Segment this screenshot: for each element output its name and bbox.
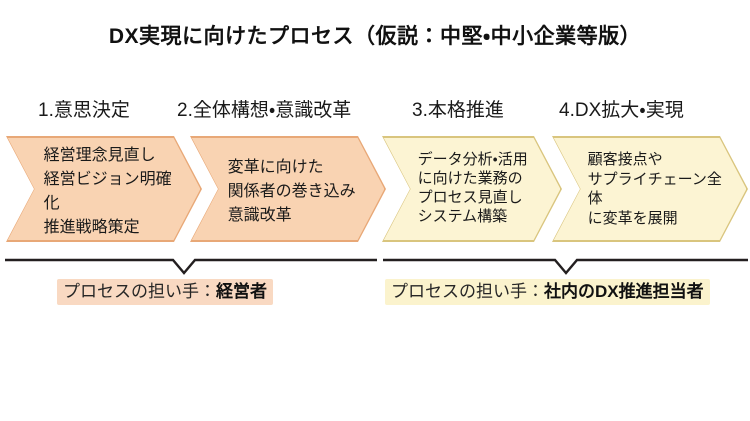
- owner-right-lead: プロセスの担い手：: [391, 282, 544, 301]
- chevron-1-line-1: 経営理念見直し: [44, 141, 177, 165]
- process-chevron-row: 経営理念見直し 経営ビジョン明確化 推進戦略策定 変革に向けた 関係者の巻き込み…: [0, 136, 750, 242]
- process-step-chevron-4: 顧客接点や サプライチェーン全体 に変革を展開: [552, 136, 748, 242]
- page-title: DX実現に向けたプロセス（仮説：中堅・中小企業等版）: [0, 20, 750, 50]
- chevron-3-line-2: に向けた業務の: [418, 170, 541, 189]
- owner-bracket-right: [383, 258, 748, 276]
- chevron-2-line-3: 意識改革: [228, 201, 361, 225]
- dx-process-diagram: DX実現に向けたプロセス（仮説：中堅・中小企業等版） 1.意思決定 2.全体構想…: [0, 0, 750, 421]
- step-label-4: 4.DX拡大・実現: [559, 95, 684, 122]
- owner-highlight-right: プロセスの担い手：社内のDX推進担当者: [385, 279, 710, 305]
- step-label-3: 3.本格推進: [412, 95, 504, 122]
- owner-left-lead: プロセスの担い手：: [63, 282, 216, 301]
- process-step-chevron-2: 変革に向けた 関係者の巻き込み 意識改革: [190, 136, 386, 242]
- step-label-1: 1.意思決定: [38, 95, 130, 122]
- chevron-1-line-2: 経営ビジョン明確化: [44, 165, 177, 213]
- chevron-body-1: 経営理念見直し 経営ビジョン明確化 推進戦略策定: [8, 138, 201, 241]
- step-label-2: 2.全体構想・意識改革: [177, 95, 351, 122]
- chevron-2-line-2: 関係者の巻き込み: [228, 177, 361, 201]
- chevron-1-line-3: 推進戦略策定: [44, 213, 177, 237]
- chevron-3-line-3: プロセス見直し: [418, 189, 541, 208]
- process-step-chevron-1: 経営理念見直し 経営ビジョン明確化 推進戦略策定: [6, 136, 202, 242]
- chevron-4-line-2: サプライチェーン全体: [588, 170, 727, 209]
- owner-right-role: 社内のDX推進担当者: [544, 282, 704, 301]
- chevron-body-4: 顧客接点や サプライチェーン全体 に変革を展開: [554, 138, 747, 241]
- owner-annotation-right: プロセスの担い手：社内のDX推進担当者: [385, 283, 710, 300]
- process-step-chevron-3: データ分析・活用 に向けた業務の プロセス見直し システム構築: [382, 136, 562, 242]
- chevron-4-line-1: 顧客接点や: [588, 150, 727, 170]
- chevron-4-line-3: に変革を展開: [588, 209, 727, 229]
- chevron-3-line-1: データ分析・活用: [418, 151, 541, 170]
- chevron-body-2: 変革に向けた 関係者の巻き込み 意識改革: [192, 138, 385, 241]
- chevron-2-line-1: 変革に向けた: [228, 153, 361, 177]
- owner-annotation-left: プロセスの担い手：経営者: [57, 283, 273, 300]
- owner-bracket-left: [5, 258, 377, 276]
- owner-left-role: 経営者: [216, 282, 267, 301]
- owner-highlight-left: プロセスの担い手：経営者: [57, 279, 273, 305]
- chevron-3-line-4: システム構築: [418, 208, 541, 227]
